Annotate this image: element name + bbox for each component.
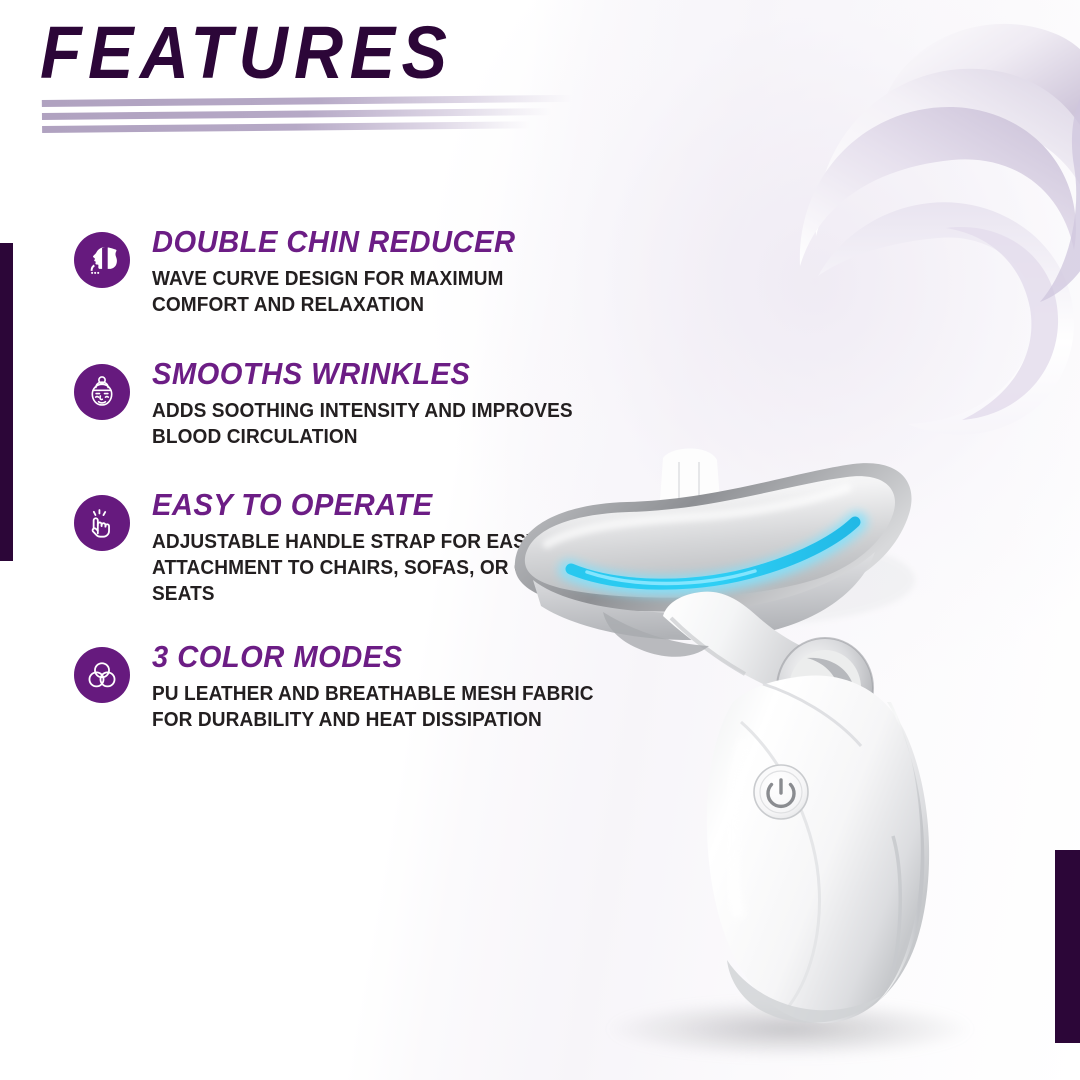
feature-heading: SMOOTHS WRINKLES xyxy=(152,358,577,391)
feature-text: SMOOTHS WRINKLES ADDS SOOTHING INTENSITY… xyxy=(152,358,604,450)
product-drop-shadow xyxy=(610,1000,970,1058)
title-rule-2 xyxy=(42,108,551,120)
feature-description: PU LEATHER AND BREATHABLE MESH FABRIC FO… xyxy=(152,681,594,733)
face-profile-chin-icon xyxy=(74,232,130,288)
left-accent-bar xyxy=(0,243,13,561)
feature-heading: EASY TO OPERATE xyxy=(152,489,605,522)
title-rule-1 xyxy=(42,95,572,107)
feature-heading: 3 COLOR MODES xyxy=(152,641,598,674)
feature-item[interactable]: DOUBLE CHIN REDUCER WAVE CURVE DESIGN FO… xyxy=(74,226,634,318)
feature-item[interactable]: SMOOTHS WRINKLES ADDS SOOTHING INTENSITY… xyxy=(74,358,634,450)
wrinkled-face-icon xyxy=(74,364,130,420)
page-title: FEATURES xyxy=(40,16,629,90)
feature-text: 3 COLOR MODES PU LEATHER AND BREATHABLE … xyxy=(152,641,627,733)
title-underline-rules xyxy=(42,95,572,140)
feature-description: ADJUSTABLE HANDLE STRAP FOR EASY ATTACHM… xyxy=(152,529,600,608)
abstract-torus-swirl xyxy=(756,0,1080,446)
feature-heading: DOUBLE CHIN REDUCER xyxy=(152,226,515,259)
feature-description: WAVE CURVE DESIGN FOR MAXIMUM COMFORT AN… xyxy=(152,266,512,318)
feature-description: ADDS SOOTHING INTENSITY AND IMPROVES BLO… xyxy=(152,398,573,450)
feature-text: DOUBLE CHIN REDUCER WAVE CURVE DESIGN FO… xyxy=(152,226,539,318)
title-rule-3 xyxy=(42,121,530,133)
header: FEATURES xyxy=(40,16,680,90)
right-accent-bar xyxy=(1055,850,1080,1043)
features-list: DOUBLE CHIN REDUCER WAVE CURVE DESIGN FO… xyxy=(74,226,634,734)
feature-text: EASY TO OPERATE ADJUSTABLE HANDLE STRAP … xyxy=(152,489,634,608)
tap-hand-icon xyxy=(74,495,130,551)
feature-poster: FEATURES xyxy=(0,0,1080,1080)
feature-item[interactable]: EASY TO OPERATE ADJUSTABLE HANDLE STRAP … xyxy=(74,489,634,608)
power-button xyxy=(754,765,808,819)
three-overlapping-circles-icon xyxy=(74,647,130,703)
feature-item[interactable]: 3 COLOR MODES PU LEATHER AND BREATHABLE … xyxy=(74,641,634,733)
